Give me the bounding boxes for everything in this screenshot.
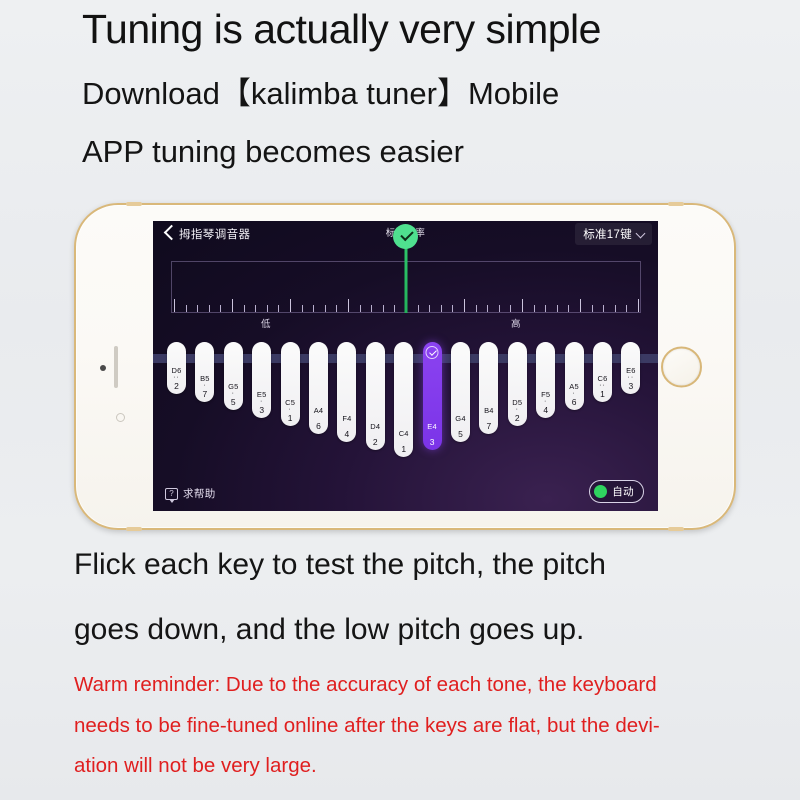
kalimba-key-octave-dots: ·: [288, 407, 291, 412]
kalimba-key-d5[interactable]: D5·2: [508, 342, 527, 426]
auto-toggle[interactable]: 自动: [589, 480, 644, 503]
footer-block: Flick each key to test the pitch, the pi…: [0, 545, 800, 649]
kalimba-key-octave-dots: ·: [203, 383, 206, 388]
kalimba-key-octave-dots: ·: [260, 399, 263, 404]
help-button-label: 求帮助: [183, 486, 216, 501]
meter-tick-minor: [545, 305, 546, 312]
meter-tick-minor: [441, 305, 442, 312]
chevron-left-icon: [163, 225, 174, 242]
antenna-line-top-left: [126, 202, 142, 206]
kalimba-key-e6[interactable]: E6··3: [621, 342, 640, 394]
meter-tick-minor: [476, 305, 477, 312]
meter-tick-major: [348, 299, 349, 312]
kalimba-key-octave-dots: ··: [599, 383, 606, 388]
warning-line-2: needs to be fine-tuned online after the …: [0, 713, 800, 739]
kalimba-key-number: 2: [373, 438, 378, 447]
kalimba-key-note: G4: [455, 415, 465, 423]
meter-tick-major: [464, 299, 465, 312]
kalimba-key-b4[interactable]: B47: [479, 342, 498, 434]
home-button[interactable]: [661, 346, 702, 387]
check-glyph: [400, 233, 412, 240]
meter-tick-minor: [603, 305, 604, 312]
meter-tick-minor: [209, 305, 210, 312]
kalimba-key-note: F4: [342, 415, 351, 423]
footer-line-1: Flick each key to test the pitch, the pi…: [0, 545, 800, 584]
meter-tick-major: [580, 299, 581, 312]
key-check-icon: [426, 346, 439, 359]
headline-line-1: Download【kalimba tuner】Mobile: [0, 74, 800, 114]
meter-tick-minor: [383, 305, 384, 312]
kalimba-key-number: 7: [487, 422, 492, 431]
meter-tick-major: [174, 299, 175, 312]
green-dot-icon: [594, 485, 607, 498]
back-button[interactable]: 拇指琴调音器: [163, 225, 250, 242]
meter-high-label: 高: [511, 316, 521, 330]
help-button[interactable]: ? 求帮助: [165, 486, 216, 501]
meter-tick-minor: [371, 305, 372, 312]
kalimba-key-note: D4: [370, 423, 380, 431]
kalimba-key-c5[interactable]: C5·1: [281, 342, 300, 426]
kalimba-key-octave-dots: ·: [544, 399, 547, 404]
tuning-needle: [404, 235, 407, 313]
meter-tick-minor: [394, 305, 395, 312]
kalimba-key-b5[interactable]: B5·7: [195, 342, 214, 402]
kalimba-key-number: 7: [203, 390, 208, 399]
meter-tick-minor: [452, 305, 453, 312]
phone-mockup: 拇指琴调音器 标准频率 标准17键 低 高 D6··2B5·7G5·5E5·3C…: [74, 203, 736, 530]
kalimba-key-c4[interactable]: C41: [394, 342, 413, 457]
warning-block: Warm reminder: Due to the accuracy of ea…: [0, 672, 800, 779]
meter-tick-minor: [325, 305, 326, 312]
kalimba-key-g4[interactable]: G45: [451, 342, 470, 442]
meter-tick-minor: [255, 305, 256, 312]
preset-selector-label: 标准17键: [583, 226, 632, 242]
antenna-line-bottom-left: [126, 527, 142, 531]
meter-tick-major: [638, 299, 639, 312]
meter-tick-minor: [487, 305, 488, 312]
kalimba-key-note: C4: [399, 430, 409, 438]
kalimba-key-octave-dots: ·: [232, 391, 235, 396]
meter-tick-minor: [197, 305, 198, 312]
kalimba-key-number: 4: [543, 406, 548, 415]
meter-tick-minor: [418, 305, 419, 312]
meter-tick-minor: [278, 305, 279, 312]
meter-tick-minor: [499, 305, 500, 312]
meter-tick-minor: [557, 305, 558, 312]
kalimba-key-number: 3: [259, 406, 264, 415]
kalimba-key-number: 1: [401, 445, 406, 454]
kalimba-keyboard: D6··2B5·7G5·5E5·3C5·1A46F44D42C41E43G45B…: [153, 336, 658, 466]
meter-tick-minor: [592, 305, 593, 312]
meter-tick-minor: [302, 305, 303, 312]
question-bubble-icon: ?: [165, 488, 178, 500]
kalimba-key-number: 2: [174, 382, 179, 391]
phone-screen: 拇指琴调音器 标准频率 标准17键 低 高 D6··2B5·7G5·5E5·3C…: [153, 221, 658, 511]
kalimba-key-number: 1: [288, 414, 293, 423]
front-camera-icon: [100, 365, 106, 371]
check-circle-icon: [393, 224, 418, 249]
meter-tick-minor: [267, 305, 268, 312]
kalimba-key-number: 3: [629, 382, 634, 391]
kalimba-key-note: B4: [484, 407, 494, 415]
meter-tick-minor: [313, 305, 314, 312]
kalimba-key-note: A4: [314, 407, 324, 415]
meter-tick-minor: [244, 305, 245, 312]
meter-tick-minor: [568, 305, 569, 312]
kalimba-key-octave-dots: ··: [628, 375, 635, 380]
meter-tick-minor: [626, 305, 627, 312]
meter-tick-minor: [429, 305, 430, 312]
kalimba-key-f4[interactable]: F44: [337, 342, 356, 442]
kalimba-key-number: 2: [515, 414, 520, 423]
kalimba-key-number: 3: [430, 438, 435, 447]
meter-tick-minor: [220, 305, 221, 312]
page-title: Tuning is actually very simple: [0, 4, 800, 54]
proximity-sensor-icon: [116, 413, 125, 422]
meter-low-label: 低: [261, 316, 271, 330]
kalimba-key-number: 6: [316, 422, 321, 431]
antenna-line-bottom-right: [668, 527, 684, 531]
meter-tick-minor: [186, 305, 187, 312]
kalimba-key-e5[interactable]: E5·3: [252, 342, 271, 418]
kalimba-key-number: 6: [572, 398, 577, 407]
meter-scale-labels: 低 高: [153, 316, 658, 330]
kalimba-key-a4[interactable]: A46: [309, 342, 328, 434]
meter-tick-minor: [510, 305, 511, 312]
meter-tick-minor: [360, 305, 361, 312]
preset-selector[interactable]: 标准17键: [575, 223, 652, 245]
kalimba-key-d4[interactable]: D42: [366, 342, 385, 450]
meter-tick-minor: [534, 305, 535, 312]
kalimba-key-d6[interactable]: D6··2: [167, 342, 186, 394]
headline-block: Tuning is actually very simple Download【…: [0, 0, 800, 171]
warning-line-1: Warm reminder: Due to the accuracy of ea…: [0, 672, 800, 698]
antenna-line-top-right: [668, 202, 684, 206]
app-title: 拇指琴调音器: [179, 226, 250, 242]
auto-toggle-label: 自动: [612, 484, 634, 499]
kalimba-key-octave-dots: ·: [572, 391, 575, 396]
footer-line-2: goes down, and the low pitch goes up.: [0, 610, 800, 649]
meter-tick-major: [522, 299, 523, 312]
meter-tick-major: [290, 299, 291, 312]
meter-tick-minor: [615, 305, 616, 312]
earpiece-speaker: [114, 346, 118, 388]
kalimba-key-note: E4: [427, 423, 437, 431]
warning-line-3: ation will not be very large.: [0, 753, 800, 779]
chevron-down-icon: [637, 230, 646, 239]
kalimba-key-octave-dots: ·: [516, 407, 519, 412]
kalimba-key-octave-dots: ··: [173, 375, 180, 380]
kalimba-key-c6[interactable]: C6··1: [593, 342, 612, 402]
meter-tick-minor: [336, 305, 337, 312]
headline-line-2: APP tuning becomes easier: [0, 132, 800, 172]
meter-tick-major: [232, 299, 233, 312]
kalimba-key-number: 5: [458, 430, 463, 439]
kalimba-key-number: 5: [231, 398, 236, 407]
kalimba-key-f5[interactable]: F5·4: [536, 342, 555, 418]
kalimba-key-number: 1: [600, 390, 605, 399]
kalimba-key-number: 4: [345, 430, 350, 439]
kalimba-key-g5[interactable]: G5·5: [224, 342, 243, 410]
kalimba-key-e4[interactable]: E43: [423, 342, 442, 450]
kalimba-key-a5[interactable]: A5·6: [565, 342, 584, 410]
